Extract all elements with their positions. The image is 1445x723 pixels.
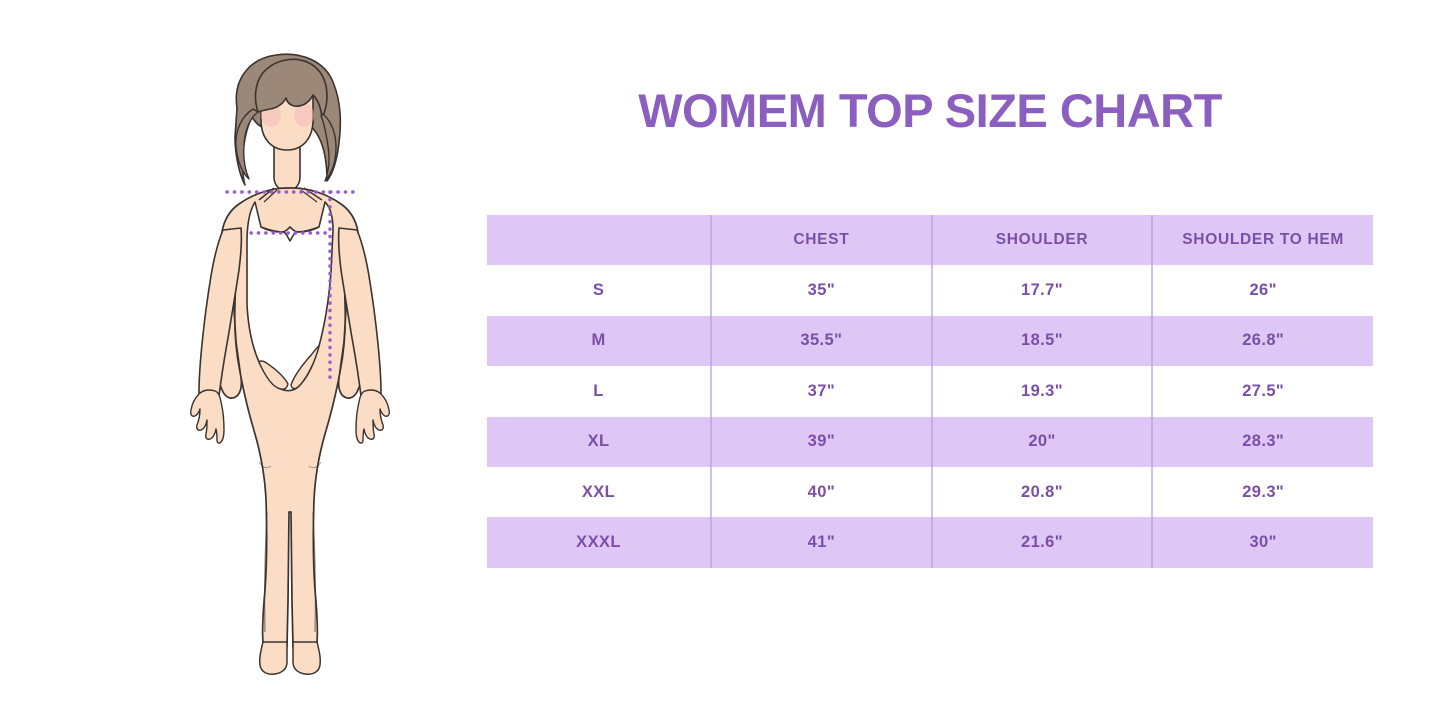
cell-chest: 35.5" bbox=[711, 316, 932, 366]
table-header-row: CHEST SHOULDER SHOULDER TO HEM bbox=[487, 215, 1373, 265]
table-row: XXXL 41" 21.6" 30" bbox=[487, 517, 1373, 567]
table-row: M 35.5" 18.5" 26.8" bbox=[487, 316, 1373, 366]
cell-size: L bbox=[487, 366, 711, 416]
cell-chest: 40" bbox=[711, 467, 932, 517]
female-body-illustration bbox=[175, 42, 405, 682]
cell-shoulder: 19.3" bbox=[932, 366, 1153, 416]
size-chart-table: CHEST SHOULDER SHOULDER TO HEM S 35" 17.… bbox=[487, 215, 1373, 568]
table-body: S 35" 17.7" 26" M 35.5" 18.5" 26.8" L 37… bbox=[487, 265, 1373, 567]
column-header-size bbox=[487, 215, 711, 265]
cell-size: XXL bbox=[487, 467, 711, 517]
table-row: S 35" 17.7" 26" bbox=[487, 265, 1373, 315]
foot-right-shape bbox=[293, 642, 320, 674]
cell-shoulder: 17.7" bbox=[932, 265, 1153, 315]
cell-shoulder: 20.8" bbox=[932, 467, 1153, 517]
cell-shoulder-to-hem: 26" bbox=[1152, 265, 1373, 315]
cell-chest: 39" bbox=[711, 417, 932, 467]
cell-chest: 35" bbox=[711, 265, 932, 315]
cell-shoulder-to-hem: 26.8" bbox=[1152, 316, 1373, 366]
cell-shoulder-to-hem: 28.3" bbox=[1152, 417, 1373, 467]
cell-shoulder-to-hem: 27.5" bbox=[1152, 366, 1373, 416]
hand-left-shape bbox=[191, 390, 224, 443]
cell-shoulder-to-hem: 30" bbox=[1152, 517, 1373, 567]
cell-chest: 41" bbox=[711, 517, 932, 567]
hand-right-shape bbox=[356, 390, 389, 443]
size-chart-page: SHOULDER CHEST SHOULDER TO HEM WOMEM TOP… bbox=[0, 0, 1445, 723]
cell-shoulder: 21.6" bbox=[932, 517, 1153, 567]
cell-size: XXXL bbox=[487, 517, 711, 567]
column-header-shoulder: SHOULDER bbox=[932, 215, 1153, 265]
size-table-container: CHEST SHOULDER SHOULDER TO HEM S 35" 17.… bbox=[487, 215, 1373, 568]
page-title: WOMEM TOP SIZE CHART bbox=[487, 83, 1373, 138]
body-figure-panel: SHOULDER CHEST SHOULDER TO HEM bbox=[0, 0, 470, 723]
cell-shoulder: 20" bbox=[932, 417, 1153, 467]
cell-chest: 37" bbox=[711, 366, 932, 416]
table-row: L 37" 19.3" 27.5" bbox=[487, 366, 1373, 416]
cell-size: M bbox=[487, 316, 711, 366]
cell-size: XL bbox=[487, 417, 711, 467]
column-header-shoulder-to-hem: SHOULDER TO HEM bbox=[1152, 215, 1373, 265]
table-header: CHEST SHOULDER SHOULDER TO HEM bbox=[487, 215, 1373, 265]
foot-left-shape bbox=[260, 642, 287, 674]
table-row: XL 39" 20" 28.3" bbox=[487, 417, 1373, 467]
cell-shoulder: 18.5" bbox=[932, 316, 1153, 366]
column-header-chest: CHEST bbox=[711, 215, 932, 265]
cell-shoulder-to-hem: 29.3" bbox=[1152, 467, 1373, 517]
cell-size: S bbox=[487, 265, 711, 315]
table-row: XXL 40" 20.8" 29.3" bbox=[487, 467, 1373, 517]
